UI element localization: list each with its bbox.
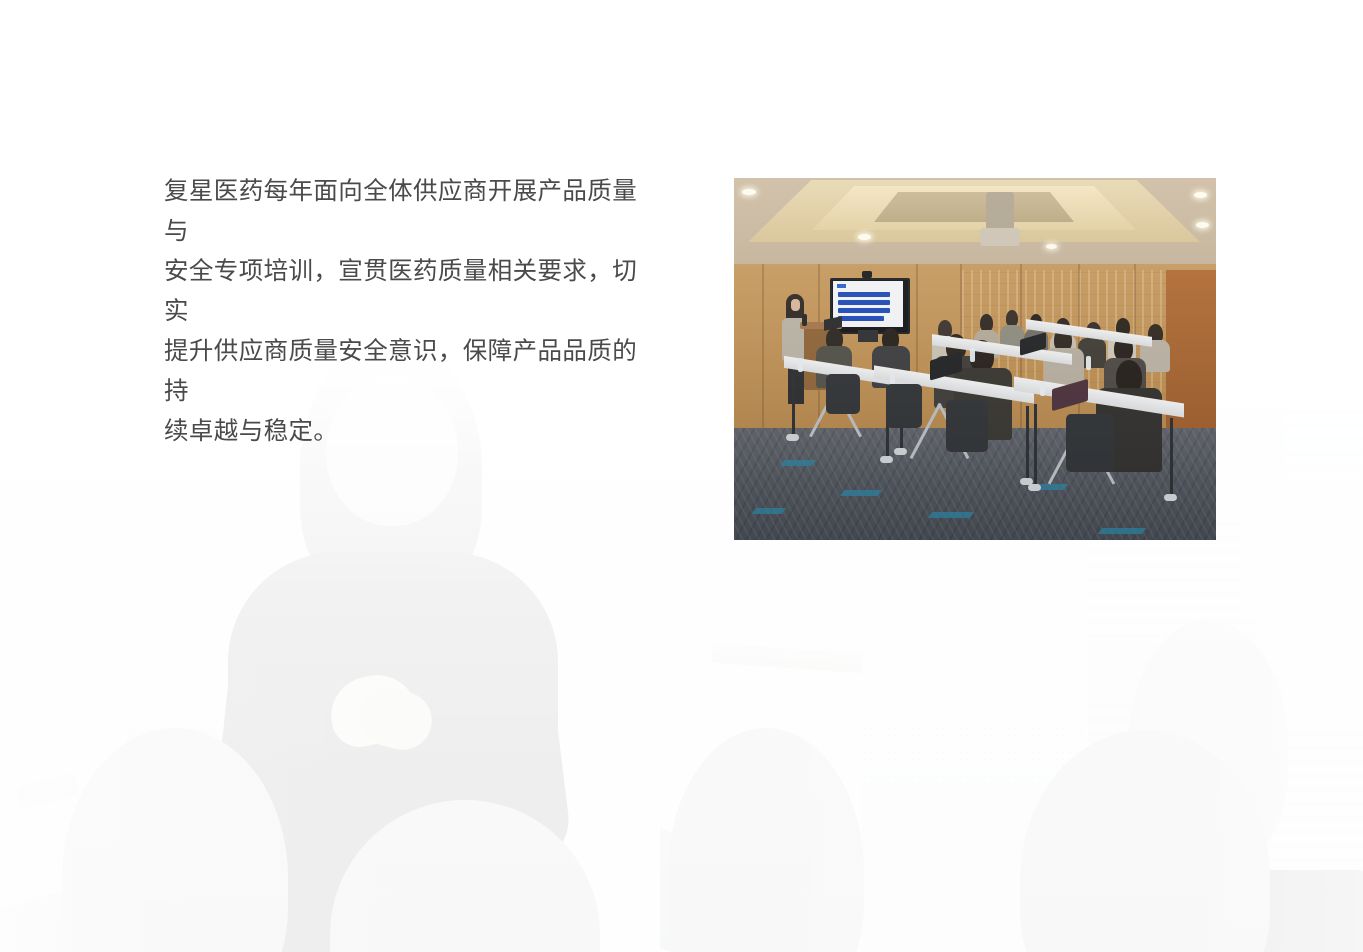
photo-slide-bar-2 bbox=[838, 300, 890, 305]
photo-table-leg-1 bbox=[792, 376, 795, 438]
photo-chair-4 bbox=[1066, 414, 1114, 472]
photo-presenter-face bbox=[791, 299, 800, 311]
photo-downlight-4 bbox=[1196, 222, 1209, 228]
photo-table-leg-4 bbox=[1026, 406, 1029, 484]
photo-video-camera bbox=[862, 271, 872, 278]
training-room-photo bbox=[734, 178, 1216, 540]
body-copy: 复星医药每年面向全体供应商开展产品质量与 安全专项培训，宣贯医药质量相关要求，切… bbox=[164, 172, 650, 452]
photo-caster-5 bbox=[1028, 484, 1041, 491]
photo-table-leg-6 bbox=[1170, 418, 1173, 498]
photo-carpet-accent-3 bbox=[928, 512, 974, 518]
photo-carpet-accent-1 bbox=[780, 460, 816, 466]
photo-slide-bar-3 bbox=[838, 308, 890, 313]
photo-water-bottle-5 bbox=[970, 348, 975, 362]
photo-carpet-accent-6 bbox=[752, 508, 786, 514]
photo-water-bottle-2 bbox=[890, 370, 895, 384]
photo-caster-6 bbox=[1164, 494, 1177, 501]
photo-caster-3 bbox=[894, 448, 907, 455]
body-copy-line-3: 提升供应商质量安全意识，保障产品品质的持 bbox=[164, 332, 650, 412]
photo-downlight-1 bbox=[742, 189, 756, 195]
photo-display-slide bbox=[833, 281, 903, 327]
photo-chair-3 bbox=[946, 400, 988, 452]
body-copy-line-1: 复星医药每年面向全体供应商开展产品质量与 bbox=[164, 172, 650, 252]
photo-screen-stand bbox=[858, 330, 878, 342]
photo-downlight-2 bbox=[858, 234, 871, 240]
photo-caster-1 bbox=[786, 434, 799, 441]
photo-wall-seam-1 bbox=[762, 264, 764, 440]
photo-microphone bbox=[802, 314, 807, 326]
photo-chair-1 bbox=[826, 374, 860, 414]
photo-chair-2 bbox=[886, 384, 922, 428]
body-copy-line-2: 安全专项培训，宣贯医药质量相关要求，切实 bbox=[164, 252, 650, 332]
photo-table-leg-5 bbox=[1034, 404, 1037, 488]
photo-water-bottle-4 bbox=[1086, 356, 1091, 370]
photo-caster-2 bbox=[880, 456, 893, 463]
photo-slide-logo-icon bbox=[837, 284, 846, 288]
body-copy-line-4: 续卓越与稳定。 bbox=[164, 412, 650, 452]
photo-water-bottle-3 bbox=[1040, 382, 1045, 396]
page-root: 复星医药每年面向全体供应商开展产品质量与 安全专项培训，宣贯医药质量相关要求，切… bbox=[0, 0, 1363, 952]
photo-downlight-3 bbox=[1194, 192, 1207, 198]
photo-carpet-accent-2 bbox=[840, 490, 882, 496]
photo-downlight-5 bbox=[1046, 244, 1057, 249]
photo-slide-bar-4 bbox=[838, 316, 884, 321]
photo-ceiling-coffer-inner bbox=[874, 192, 1074, 222]
photo-slide-bar-1 bbox=[838, 292, 890, 297]
photo-water-bottle-1 bbox=[798, 358, 803, 372]
photo-carpet-accent-5 bbox=[1098, 528, 1146, 534]
photo-projector bbox=[980, 228, 1020, 246]
